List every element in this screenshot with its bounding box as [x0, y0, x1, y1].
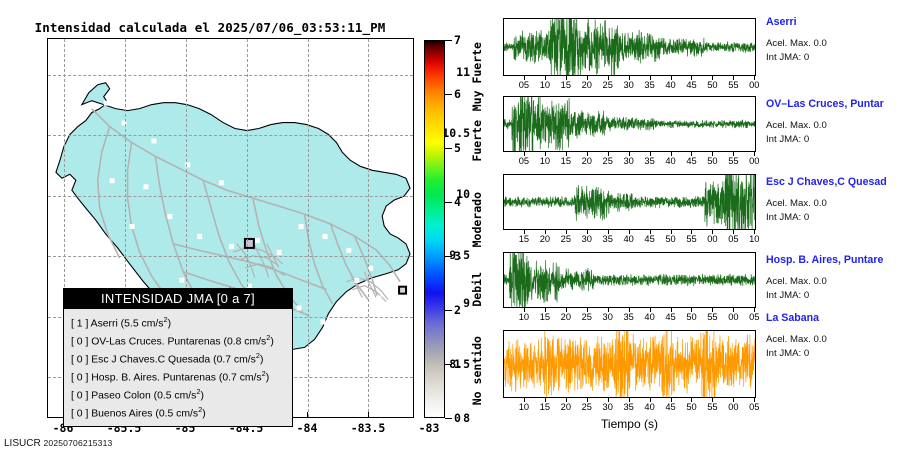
- time-tick-label: 40: [618, 234, 640, 244]
- intensity-map-panel: Intensidad calculada el 2025/07/06_03:53…: [0, 0, 470, 460]
- time-tick-label: 50: [680, 312, 702, 322]
- colorbar-tick-label: 6: [454, 87, 470, 101]
- legend-accel: 0.7: [217, 355, 231, 366]
- station-accel: Acel. Max. 0.0: [766, 119, 910, 133]
- station-info: La Sabana Acel. Max. 0.0 Int JMA: 0: [766, 312, 910, 360]
- colorbar-tick-label: 3: [454, 249, 470, 263]
- waveform-trace: [504, 97, 755, 151]
- time-tick-label: 30: [597, 402, 619, 412]
- station-intensity: Int JMA: 0: [766, 211, 910, 225]
- legend-unit: cm/s: [176, 409, 198, 420]
- time-tick-label: 30: [618, 156, 640, 166]
- map-xtick-label: -83: [399, 421, 459, 435]
- time-tick-label: 10: [534, 156, 556, 166]
- colorbar-tick-label: 0: [454, 411, 470, 425]
- legend-item: [ 1 ] Aserri (5.5 cm/s2): [71, 313, 286, 331]
- seismogram-xaxis-title: Tiempo (s): [503, 417, 756, 431]
- time-tick-label: 20: [576, 80, 598, 90]
- map-gridline-h: [48, 256, 413, 257]
- footer-code: 20250706215313: [43, 438, 112, 448]
- time-tick-label: 55: [701, 402, 723, 412]
- legend-accel: 0.8: [227, 337, 241, 348]
- station-intensity: Int JMA: 0: [766, 347, 910, 361]
- time-tick-label: 00: [743, 80, 765, 90]
- legend-unit: cm/s: [234, 355, 256, 366]
- legend-level: [ 0 ]: [71, 373, 88, 384]
- time-tick-label: 05: [513, 156, 535, 166]
- station-name: OV–Las Cruces, Puntar: [766, 98, 910, 111]
- time-tick-label: 15: [555, 156, 577, 166]
- map-xtick: [307, 412, 308, 418]
- time-tick-label: 50: [701, 156, 723, 166]
- time-tick-label: 00: [722, 312, 744, 322]
- station-intensity: Int JMA: 0: [766, 289, 910, 303]
- time-tick-label: 35: [618, 402, 640, 412]
- waveform-time-axis: 101520253035404550550005: [503, 398, 756, 412]
- colorbar-tick-label: 4: [454, 195, 470, 209]
- time-tick-label: 40: [639, 402, 661, 412]
- time-tick-label: 10: [534, 80, 556, 90]
- time-tick-label: 30: [597, 312, 619, 322]
- time-tick-label: 40: [660, 156, 682, 166]
- station-info: OV–Las Cruces, Puntar Acel. Max. 0.0 Int…: [766, 98, 910, 146]
- waveform-trace: [504, 331, 755, 397]
- legend-unit: cm/s: [244, 337, 266, 348]
- time-tick-label: 25: [555, 234, 577, 244]
- legend-accel: 5.5: [124, 318, 138, 329]
- waveform-plot: [503, 174, 756, 230]
- station-name: Esc J Chaves,C Quesad: [766, 176, 910, 189]
- time-tick-label: 30: [618, 80, 640, 90]
- legend-unit: cm/s: [240, 373, 262, 384]
- time-tick-label: 35: [618, 312, 640, 322]
- waveform-trace: [504, 175, 755, 229]
- time-tick-label: 20: [534, 234, 556, 244]
- time-tick-label: 45: [680, 80, 702, 90]
- legend-rows: [ 1 ] Aserri (5.5 cm/s2) [ 0 ] OV-Las Cr…: [64, 309, 292, 426]
- time-tick-label: 45: [680, 156, 702, 166]
- legend-level: [ 0 ]: [71, 337, 88, 348]
- time-tick-label: 55: [701, 312, 723, 322]
- waveform-plot: [503, 252, 756, 308]
- map-gridline-h: [48, 135, 413, 136]
- time-tick-label: 05: [722, 234, 744, 244]
- legend-item: [ 0 ] Hosp. B. Aires. Puntarenas (0.7 cm…: [71, 367, 286, 385]
- colorbar-gradient: [424, 40, 445, 418]
- waveform-plot: [503, 330, 756, 398]
- map-xtick: [368, 412, 369, 418]
- time-tick-label: 55: [722, 80, 744, 90]
- time-tick-label: 35: [639, 156, 661, 166]
- legend-accel: 0.7: [222, 373, 236, 384]
- legend-item: [ 0 ] Paseo Colon (0.5 cm/s2): [71, 385, 286, 403]
- time-tick-label: 25: [597, 156, 619, 166]
- station-name: Hosp. B. Aires, Puntare: [766, 254, 910, 267]
- time-tick-label: 05: [513, 80, 535, 90]
- time-tick-label: 10: [513, 312, 535, 322]
- legend-level: [ 0 ]: [71, 409, 88, 420]
- time-tick-label: 50: [701, 80, 723, 90]
- time-tick-label: 25: [576, 402, 598, 412]
- legend-title: INTENSIDAD JMA [0 a 7]: [64, 289, 292, 309]
- time-tick-label: 15: [534, 402, 556, 412]
- page-title: Intensidad calculada el 2025/07/06_03:53…: [0, 20, 420, 35]
- footer: LISUCR 20250706215313: [4, 438, 112, 449]
- epicenter-marker: [244, 238, 255, 249]
- seismogram-panel: 051015202530354045505500 Aserri Acel. Ma…: [470, 0, 910, 460]
- time-tick-label: 25: [597, 80, 619, 90]
- station-accel: Acel. Max. 0.0: [766, 333, 910, 347]
- time-tick-label: 45: [660, 312, 682, 322]
- legend-station: Paseo Colon: [91, 391, 151, 402]
- map-gridline-h: [48, 196, 413, 197]
- time-tick-label: 45: [639, 234, 661, 244]
- time-tick-label: 55: [680, 234, 702, 244]
- time-tick-label: 20: [555, 312, 577, 322]
- time-tick-label: 35: [597, 234, 619, 244]
- waveform-trace: [504, 253, 755, 307]
- station-name: La Sabana: [766, 312, 910, 325]
- legend-accel: 0.5: [157, 391, 171, 402]
- station-info: Aserri Acel. Max. 0.0 Int JMA: 0: [766, 16, 910, 64]
- time-tick-label: 45: [660, 402, 682, 412]
- legend-accel: 0.5: [159, 409, 173, 420]
- footer-agency: LISUCR: [4, 438, 41, 449]
- time-tick-label: 00: [722, 402, 744, 412]
- waveform-time-axis: 152025303540455055000510: [503, 230, 756, 244]
- map-gridline-v: [308, 39, 309, 417]
- time-tick-label: 15: [513, 234, 535, 244]
- waveform-plot: [503, 96, 756, 152]
- legend-station: Esc J Chaves.C Quesada: [91, 355, 210, 366]
- time-tick-label: 25: [576, 312, 598, 322]
- intensity-legend: INTENSIDAD JMA [0 a 7] [ 1 ] Aserri (5.5…: [63, 288, 293, 427]
- time-tick-label: 10: [513, 402, 535, 412]
- waveform-plot: [503, 18, 756, 76]
- legend-station: Buenos Aires: [91, 409, 152, 420]
- time-tick-label: 40: [639, 312, 661, 322]
- station-accel: Acel. Max. 0.0: [766, 197, 910, 211]
- waveform-time-axis: 051015202530354045505500: [503, 76, 756, 90]
- station-intensity: Int JMA: 0: [766, 133, 910, 147]
- time-tick-label: 40: [660, 80, 682, 90]
- station-info: Esc J Chaves,C Quesad Acel. Max. 0.0 Int…: [766, 176, 910, 224]
- map-xtick-label: -83.5: [338, 421, 398, 435]
- legend-station: Aserri: [91, 318, 118, 329]
- colorbar-tick-label: 2: [454, 303, 470, 317]
- waveform-trace: [504, 19, 755, 75]
- legend-item: [ 0 ] Buenos Aires (0.5 cm/s2): [71, 403, 286, 421]
- station-accel: Acel. Max. 0.0: [766, 275, 910, 289]
- station-accel: Acel. Max. 0.0: [766, 37, 910, 51]
- station-info: Hosp. B. Aires, Puntare Acel. Max. 0.0 I…: [766, 254, 910, 302]
- station-name: Aserri: [766, 16, 910, 29]
- legend-level: [ 1 ]: [71, 318, 88, 329]
- legend-unit: cm/s: [142, 318, 164, 329]
- time-tick-label: 50: [660, 234, 682, 244]
- time-tick-label: 20: [576, 156, 598, 166]
- legend-station: OV-Las Cruces. Puntarenas: [91, 337, 220, 348]
- waveform-time-axis: 051015202530354045505500: [503, 152, 756, 166]
- time-tick-label: 35: [639, 80, 661, 90]
- time-tick-label: 55: [722, 156, 744, 166]
- map-gridline-h: [48, 75, 413, 76]
- map-gridline-v: [368, 39, 369, 417]
- time-tick-label: 00: [743, 156, 765, 166]
- waveform-time-axis: 101520253035404550550005: [503, 308, 756, 322]
- time-tick-label: 15: [534, 312, 556, 322]
- time-tick-label: 05: [743, 312, 765, 322]
- legend-level: [ 0 ]: [71, 355, 88, 366]
- legend-item: [ 0 ] OV-Las Cruces. Puntarenas (0.8 cm/…: [71, 331, 286, 349]
- colorbar-tick-label: 7: [454, 33, 470, 47]
- legend-unit: cm/s: [174, 391, 196, 402]
- legend-item: [ 0 ] Esc J Chaves.C Quesada (0.7 cm/s2): [71, 349, 286, 367]
- time-tick-label: 30: [576, 234, 598, 244]
- time-tick-label: 15: [555, 80, 577, 90]
- colorbar-tick-label: 5: [454, 141, 470, 155]
- colorbar-tick-label: 1: [454, 357, 470, 371]
- time-tick-label: 05: [743, 402, 765, 412]
- time-tick-label: 20: [555, 402, 577, 412]
- station-intensity: Int JMA: 0: [766, 51, 910, 65]
- legend-station: Hosp. B. Aires. Puntarenas: [91, 373, 216, 384]
- time-tick-label: 50: [680, 402, 702, 412]
- time-tick-label: 00: [701, 234, 723, 244]
- legend-level: [ 0 ]: [71, 391, 88, 402]
- time-tick-label: 10: [743, 234, 765, 244]
